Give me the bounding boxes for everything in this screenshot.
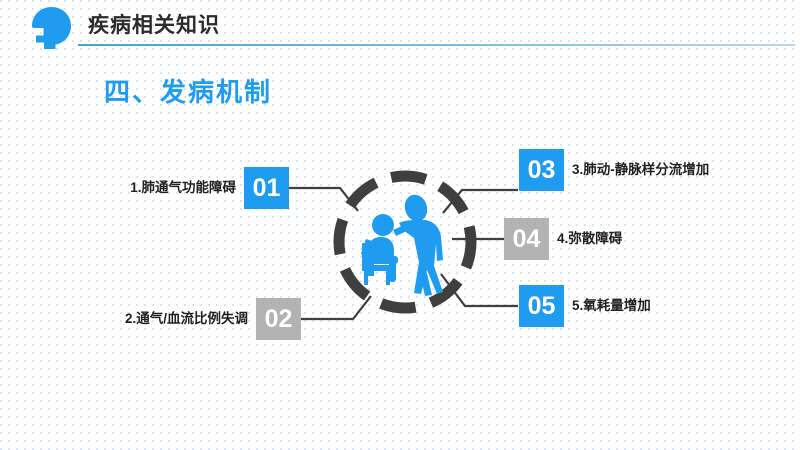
slide-canvas: 疾病相关知识 四、发病机制: [0, 0, 800, 450]
header-title: 疾病相关知识: [88, 9, 220, 39]
doctor-examining-patient-icon: [361, 192, 443, 296]
head-speech-bubble-icon: [30, 6, 72, 50]
slide-header: 疾病相关知识: [0, 0, 800, 56]
item-number-badge-05[interactable]: 05: [519, 285, 564, 327]
dashed-circle-ring: [339, 176, 471, 308]
connector-lines: [289, 188, 518, 319]
item-number-badge-01[interactable]: 01: [244, 167, 289, 209]
header-divider-rule: [78, 44, 795, 46]
item-label-01: 1.肺通气功能障碍: [0, 167, 236, 209]
item-label-02: 2.通气/血流比例失调: [0, 298, 248, 340]
connector-02: [300, 296, 371, 319]
item-label-04: 4.弥散障碍: [557, 218, 622, 260]
page-title: 四、发病机制: [104, 72, 272, 109]
mechanism-diagram: 1.肺通气功能障碍 01 2.通气/血流比例失调 02 03 3.肺动-静脉样分…: [0, 110, 800, 370]
item-number-badge-04[interactable]: 04: [504, 218, 549, 260]
item-label-03: 3.肺动-静脉样分流增加: [572, 149, 709, 191]
item-label-05: 5.氧耗量增加: [572, 285, 651, 327]
item-number-badge-03[interactable]: 03: [519, 149, 564, 191]
item-number-badge-02[interactable]: 02: [256, 298, 301, 340]
